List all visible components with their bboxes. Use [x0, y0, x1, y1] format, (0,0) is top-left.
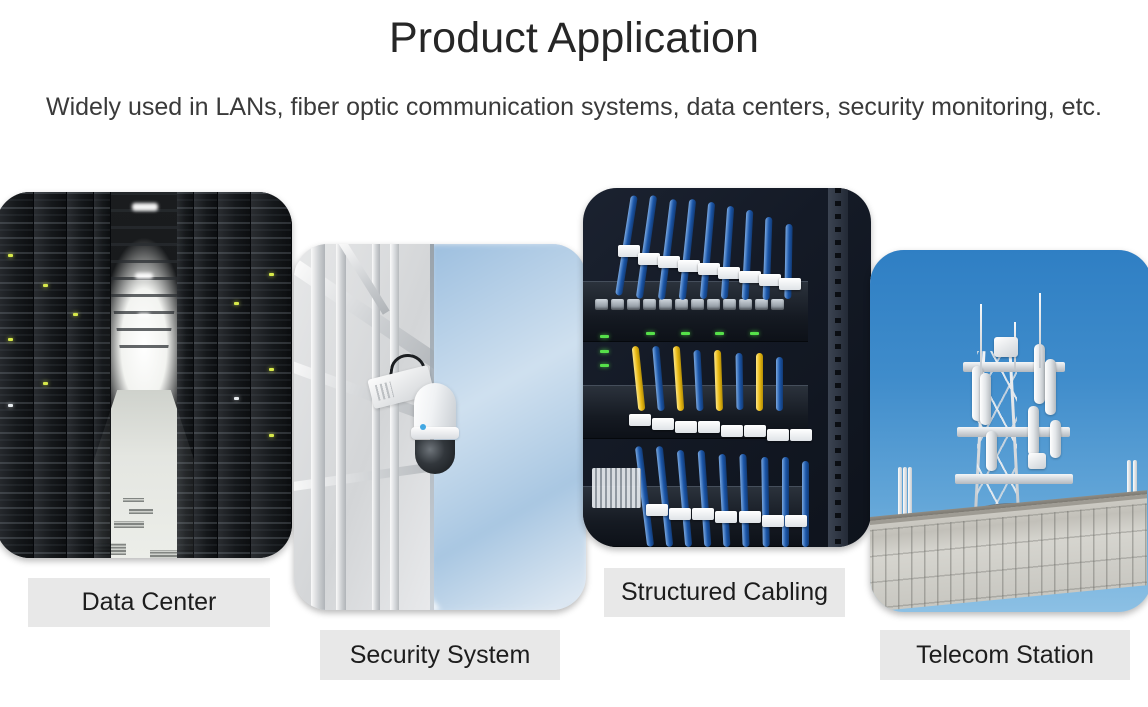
cable-label: [692, 508, 714, 520]
rj45-port: [675, 299, 688, 310]
patch-cable-yellow: [756, 353, 763, 410]
sector-antenna: [980, 373, 991, 425]
rack-status-led: [8, 338, 13, 341]
rj45-port: [595, 299, 608, 310]
cable-label: [739, 271, 761, 283]
sector-antenna: [1028, 406, 1039, 456]
status-led: [600, 364, 609, 367]
status-led: [600, 350, 609, 353]
rack-rail: [828, 188, 848, 547]
cable-label: [698, 421, 720, 433]
status-led: [600, 335, 609, 338]
rack-status-led: [234, 302, 239, 305]
server-rack: [67, 192, 94, 558]
rack-status-led: [269, 273, 274, 276]
rack-status-led: [234, 397, 239, 400]
telecom-station-photo: [870, 250, 1148, 612]
patch-cable: [776, 357, 783, 411]
ceiling-light: [138, 313, 150, 317]
patch-cable: [782, 457, 789, 547]
rj45-port: [739, 299, 752, 310]
sector-antenna: [1050, 420, 1061, 458]
cable-label: [721, 425, 743, 437]
server-rack: [0, 192, 34, 558]
product-application-slide: Product Application Widely used in LANs,…: [0, 0, 1148, 707]
structured-cabling-photo: [583, 188, 871, 547]
server-rack: [194, 192, 218, 558]
cable-label: [618, 245, 640, 257]
cable-label: [759, 274, 781, 286]
rack-status-led: [8, 254, 13, 257]
status-led: [646, 332, 655, 335]
rj45-port: [691, 299, 704, 310]
server-rack: [34, 192, 67, 558]
rack-status-led: [8, 404, 13, 407]
page-title: Product Application: [0, 14, 1148, 63]
patch-cable: [802, 461, 809, 547]
application-card-security-system[interactable]: [294, 244, 586, 610]
cable-label: [739, 511, 761, 523]
rj45-port: [643, 299, 656, 310]
cable-label: [767, 429, 789, 441]
cable-label: [652, 418, 674, 430]
server-rack: [251, 192, 292, 558]
status-led: [750, 332, 759, 335]
security-camera-ring: [411, 427, 459, 439]
cable-label: [638, 253, 660, 265]
caption-telecom-station: Telecom Station: [880, 630, 1130, 680]
cable-label: [675, 421, 697, 433]
rj45-port: [707, 299, 720, 310]
camera-indicator-icon: [420, 424, 426, 430]
cable-label: [790, 429, 812, 441]
rj45-port: [771, 299, 784, 310]
steel-column: [311, 244, 325, 610]
caption-structured-cabling: Structured Cabling: [604, 568, 845, 617]
cable-label: [785, 515, 807, 527]
ceiling-light: [135, 273, 153, 279]
cable-label: [715, 511, 737, 523]
cable-label: [762, 515, 784, 527]
rack-status-led: [43, 284, 48, 287]
server-rack: [218, 192, 251, 558]
camera-mounting-pole: [390, 244, 399, 610]
rj45-port: [659, 299, 672, 310]
microwave-unit: [994, 337, 1018, 357]
patch-cable: [761, 457, 770, 547]
floor-vent-tile: [114, 521, 144, 528]
rj45-port: [723, 299, 736, 310]
page-subtitle: Widely used in LANs, fiber optic communi…: [0, 92, 1148, 122]
application-card-telecom-station[interactable]: [870, 250, 1148, 612]
cable-label: [698, 263, 720, 275]
caption-security-system: Security System: [320, 630, 560, 680]
rack-status-led: [269, 434, 274, 437]
cable-label: [629, 414, 651, 426]
caption-data-center: Data Center: [28, 578, 270, 627]
cable-label: [744, 425, 766, 437]
rj45-port: [755, 299, 768, 310]
cable-label: [646, 504, 668, 516]
microwave-unit: [1028, 453, 1046, 469]
floor-vent-tile: [123, 498, 144, 502]
application-card-data-center[interactable]: [0, 192, 292, 558]
server-rack: [94, 192, 112, 558]
cable-label: [669, 508, 691, 520]
rack-status-led: [269, 368, 274, 371]
rj45-port: [627, 299, 640, 310]
cable-label: [718, 267, 740, 279]
vent-panel: [592, 468, 641, 507]
status-led: [715, 332, 724, 335]
cable-label: [678, 260, 700, 272]
cable-label: [779, 278, 801, 290]
whip-antenna: [1039, 293, 1041, 368]
sector-antenna: [986, 431, 997, 471]
security-system-photo: [294, 244, 586, 610]
patch-cable: [735, 353, 743, 411]
data-center-photo: [0, 192, 292, 558]
server-rack: [177, 192, 195, 558]
floor-vent-tile: [129, 509, 153, 514]
steel-column: [336, 244, 346, 610]
status-led: [681, 332, 690, 335]
whip-antenna: [980, 304, 982, 374]
application-card-structured-cabling[interactable]: [583, 188, 871, 547]
sector-antenna: [1045, 359, 1056, 415]
antenna-platform: [955, 474, 1073, 484]
rj45-port: [611, 299, 624, 310]
rj45-port-row: [595, 299, 784, 310]
ceiling-light: [132, 203, 158, 211]
cable-label: [658, 256, 680, 268]
rack-status-led: [73, 313, 78, 316]
